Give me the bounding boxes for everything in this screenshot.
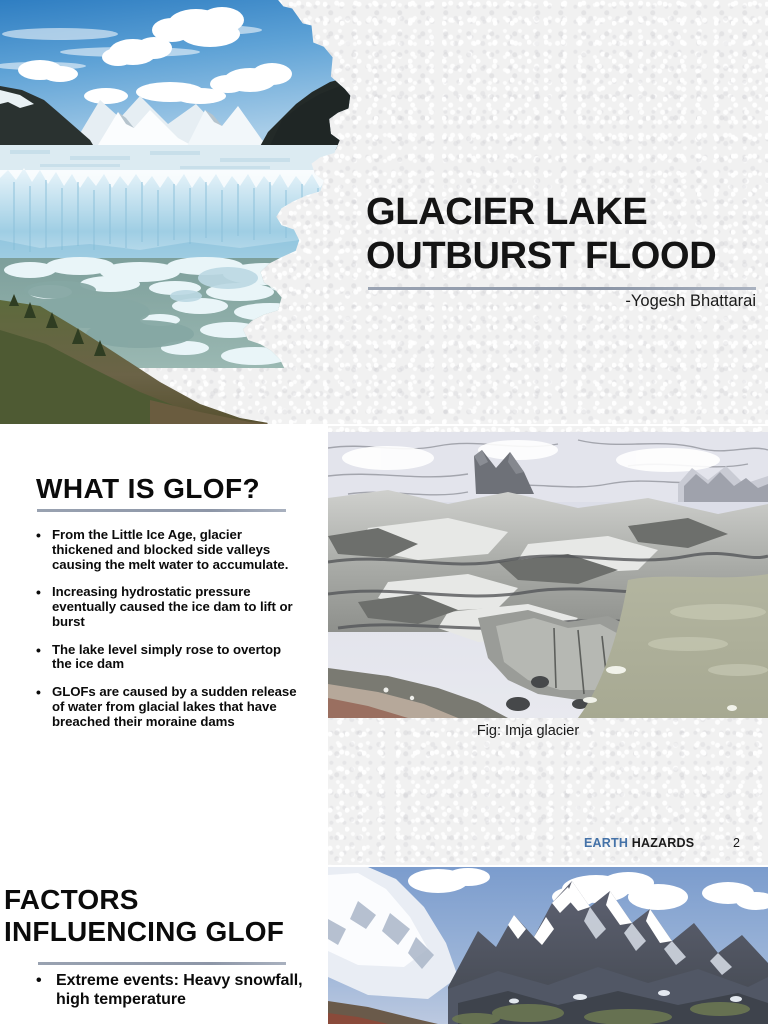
bullet-marker-icon: • xyxy=(36,971,56,1009)
slide-page-number: 2 xyxy=(733,836,740,850)
slide-3-heading-underline xyxy=(38,962,286,965)
footer-brand-hazards: HAZARDS xyxy=(632,836,695,850)
slide-3-factors-influencing-glof: FACTORS INFLUENCING GLOF • Extreme event… xyxy=(0,867,768,1024)
slide-2-heading-underline xyxy=(37,509,286,512)
slide-3-heading-line-2: INFLUENCING GLOF xyxy=(4,916,284,947)
presentation-title: GLACIER LAKE OUTBURST FLOOD xyxy=(366,190,758,279)
slide-3-heading-line-1: FACTORS xyxy=(4,884,139,915)
himalayan-peaks-photo xyxy=(328,867,768,1024)
title-underline xyxy=(368,287,756,290)
bullet-marker-icon: • xyxy=(36,643,52,673)
list-item: • GLOFs are caused by a sudden release o… xyxy=(36,685,298,729)
footer-brand: EARTH HAZARDS xyxy=(584,836,694,850)
list-item: • Extreme events: Heavy snowfall, high t… xyxy=(36,971,304,1009)
author-name: -Yogesh Bhattarai xyxy=(366,292,756,311)
bullet-marker-icon: • xyxy=(36,685,52,729)
title-line-2: OUTBURST FLOOD xyxy=(366,235,716,277)
footer-brand-earth: EARTH xyxy=(584,836,628,850)
bullet-text: From the Little Ice Age, glacier thicken… xyxy=(52,528,298,572)
bullet-marker-icon: • xyxy=(36,585,52,629)
presentation-deck: GLACIER LAKE OUTBURST FLOOD -Yogesh Bhat… xyxy=(0,0,768,1024)
list-item: • Increasing hydrostatic pressure eventu… xyxy=(36,585,298,629)
bullet-text: Increasing hydrostatic pressure eventual… xyxy=(52,585,298,629)
list-item: • The lake level simply rose to overtop … xyxy=(36,643,298,673)
slide-3-bullet-list: • Extreme events: Heavy snowfall, high t… xyxy=(36,971,304,1022)
bullet-text: The lake level simply rose to overtop th… xyxy=(52,643,298,673)
bullet-text: Extreme events: Heavy snowfall, high tem… xyxy=(56,971,304,1009)
slide-1-title: GLACIER LAKE OUTBURST FLOOD -Yogesh Bhat… xyxy=(0,0,768,425)
figure-caption: Fig: Imja glacier xyxy=(328,723,728,739)
glacier-calving-photo xyxy=(0,0,352,425)
list-item: • From the Little Ice Age, glacier thick… xyxy=(36,528,298,572)
bullet-text: GLOFs are caused by a sudden release of … xyxy=(52,685,298,729)
slide-3-heading: FACTORS INFLUENCING GLOF xyxy=(4,884,334,949)
slide-2-heading: WHAT IS GLOF? xyxy=(36,473,260,505)
bullet-marker-icon: • xyxy=(36,528,52,572)
slide-2-what-is-glof: WHAT IS GLOF? • From the Little Ice Age,… xyxy=(0,426,768,866)
slide-2-bullet-list: • From the Little Ice Age, glacier thick… xyxy=(36,528,298,743)
imja-glacier-photo xyxy=(328,432,768,718)
title-line-1: GLACIER LAKE xyxy=(366,191,647,233)
